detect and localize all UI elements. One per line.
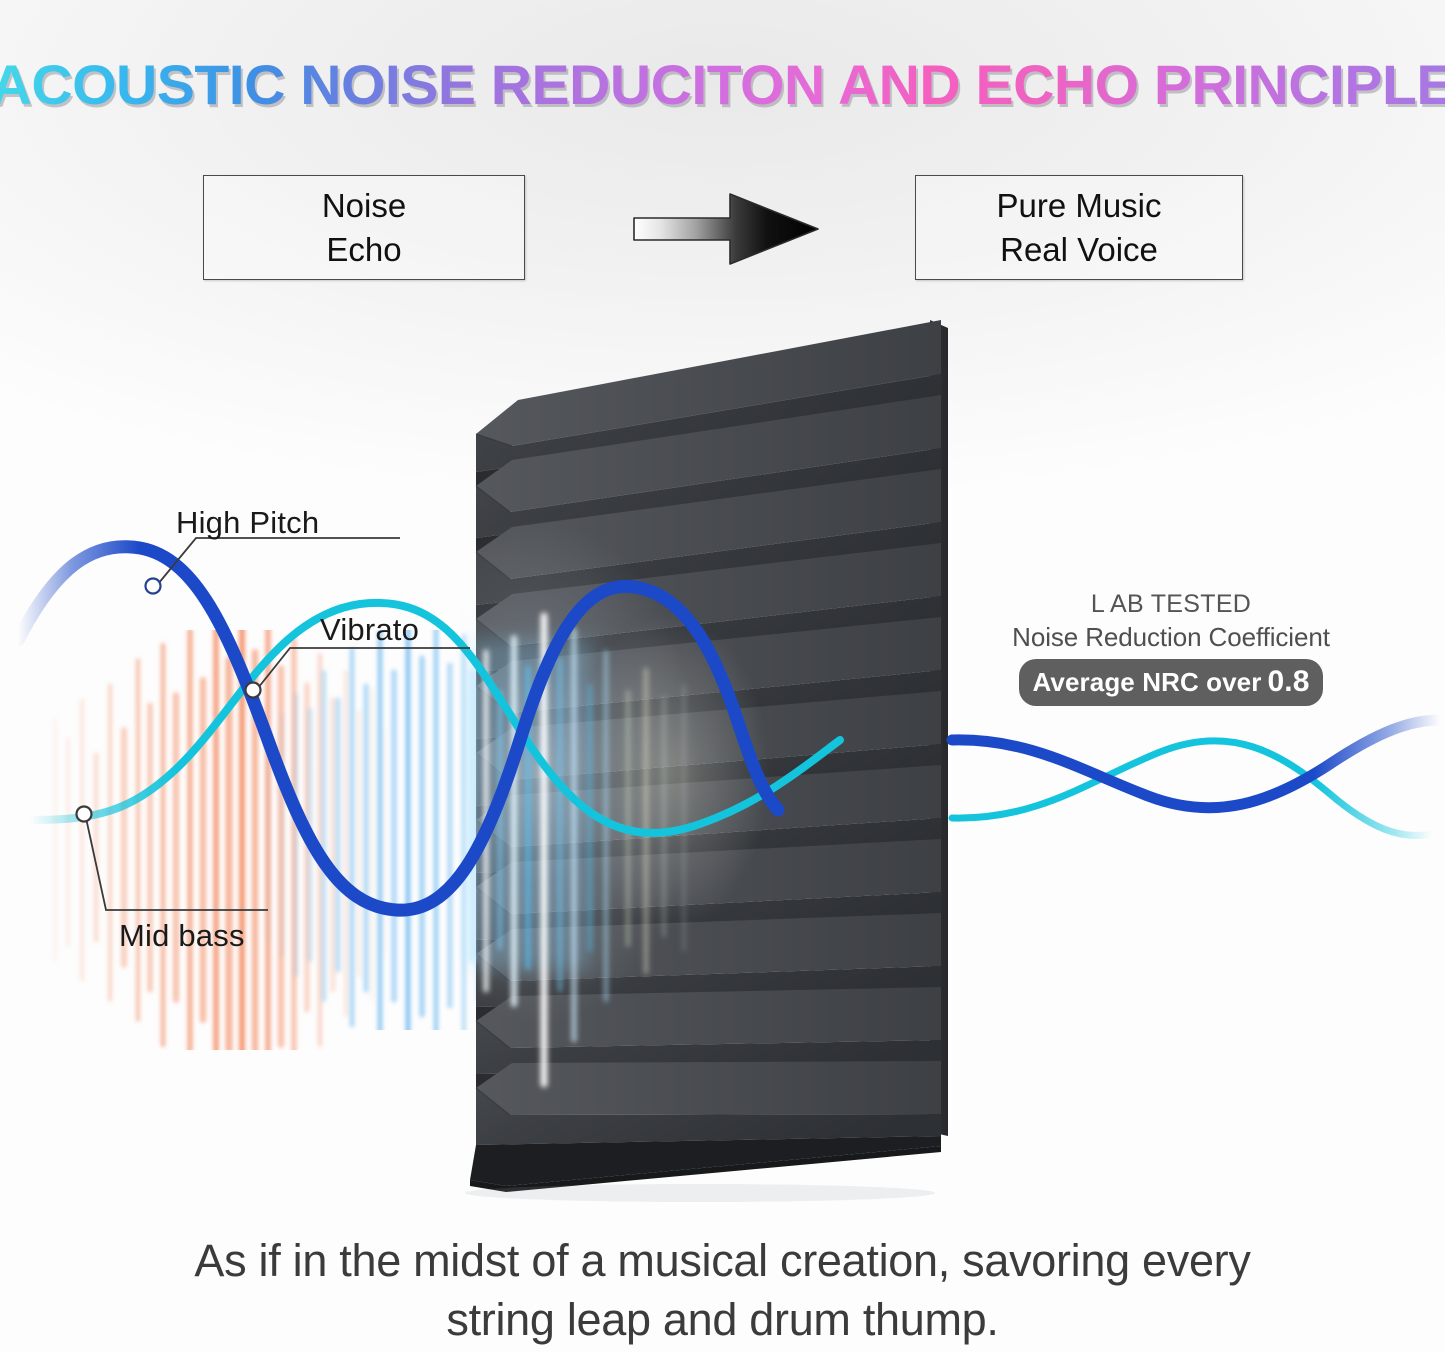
caption-line-1: As if in the midst of a musical creation… (0, 1232, 1445, 1291)
marker-high-pitch (146, 579, 161, 594)
nrc-pill-value: 0.8 (1267, 665, 1309, 698)
noise-reduction-coefficient-text: Noise Reduction Coefficient (1006, 622, 1336, 653)
illustration-svg (0, 300, 1445, 1220)
marker-vibrato (246, 683, 261, 698)
leader-vibrato (258, 648, 470, 688)
blue-sine-right (952, 720, 1440, 808)
panel-shadow (465, 1184, 935, 1202)
pure-music-line1: Pure Music (996, 184, 1161, 228)
page-title-wrap: ACOUSTIC NOISE REDUCITON AND ECHO PRINCI… (0, 52, 1445, 117)
right-arrow-icon (632, 188, 822, 270)
page-title: ACOUSTIC NOISE REDUCITON AND ECHO PRINCI… (0, 52, 1445, 117)
infographic-root: ACOUSTIC NOISE REDUCITON AND ECHO PRINCI… (0, 0, 1445, 1352)
callout-label-mid-bass: Mid bass (119, 918, 245, 954)
cyan-sine-right (952, 741, 1432, 836)
nrc-value-pill: Average NRC over0.8 (1019, 659, 1324, 706)
nrc-badge-block: L AB TESTED Noise Reduction Coefficient … (1006, 590, 1336, 706)
lab-tested-text: L AB TESTED (1006, 590, 1336, 619)
marker-mid-bass (77, 807, 92, 822)
callout-label-high-pitch: High Pitch (176, 505, 319, 541)
pure-music-line2: Real Voice (1000, 228, 1158, 272)
pure-music-box: Pure Music Real Voice (915, 175, 1243, 280)
left-noise-spectrum (55, 610, 492, 1130)
caption-line-2: string leap and drum thump. (0, 1291, 1445, 1350)
noise-echo-line1: Noise (322, 184, 406, 228)
bottom-caption: As if in the midst of a musical creation… (0, 1232, 1445, 1349)
callout-label-vibrato: Vibrato (320, 612, 419, 648)
noise-echo-box: Noise Echo (203, 175, 525, 280)
acoustic-illustration-stage (0, 300, 1445, 1220)
nrc-pill-prefix: Average NRC over (1033, 667, 1262, 697)
callout-leaders (77, 538, 471, 910)
noise-echo-line2: Echo (326, 228, 401, 272)
vibrato-spikes (268, 618, 492, 1062)
